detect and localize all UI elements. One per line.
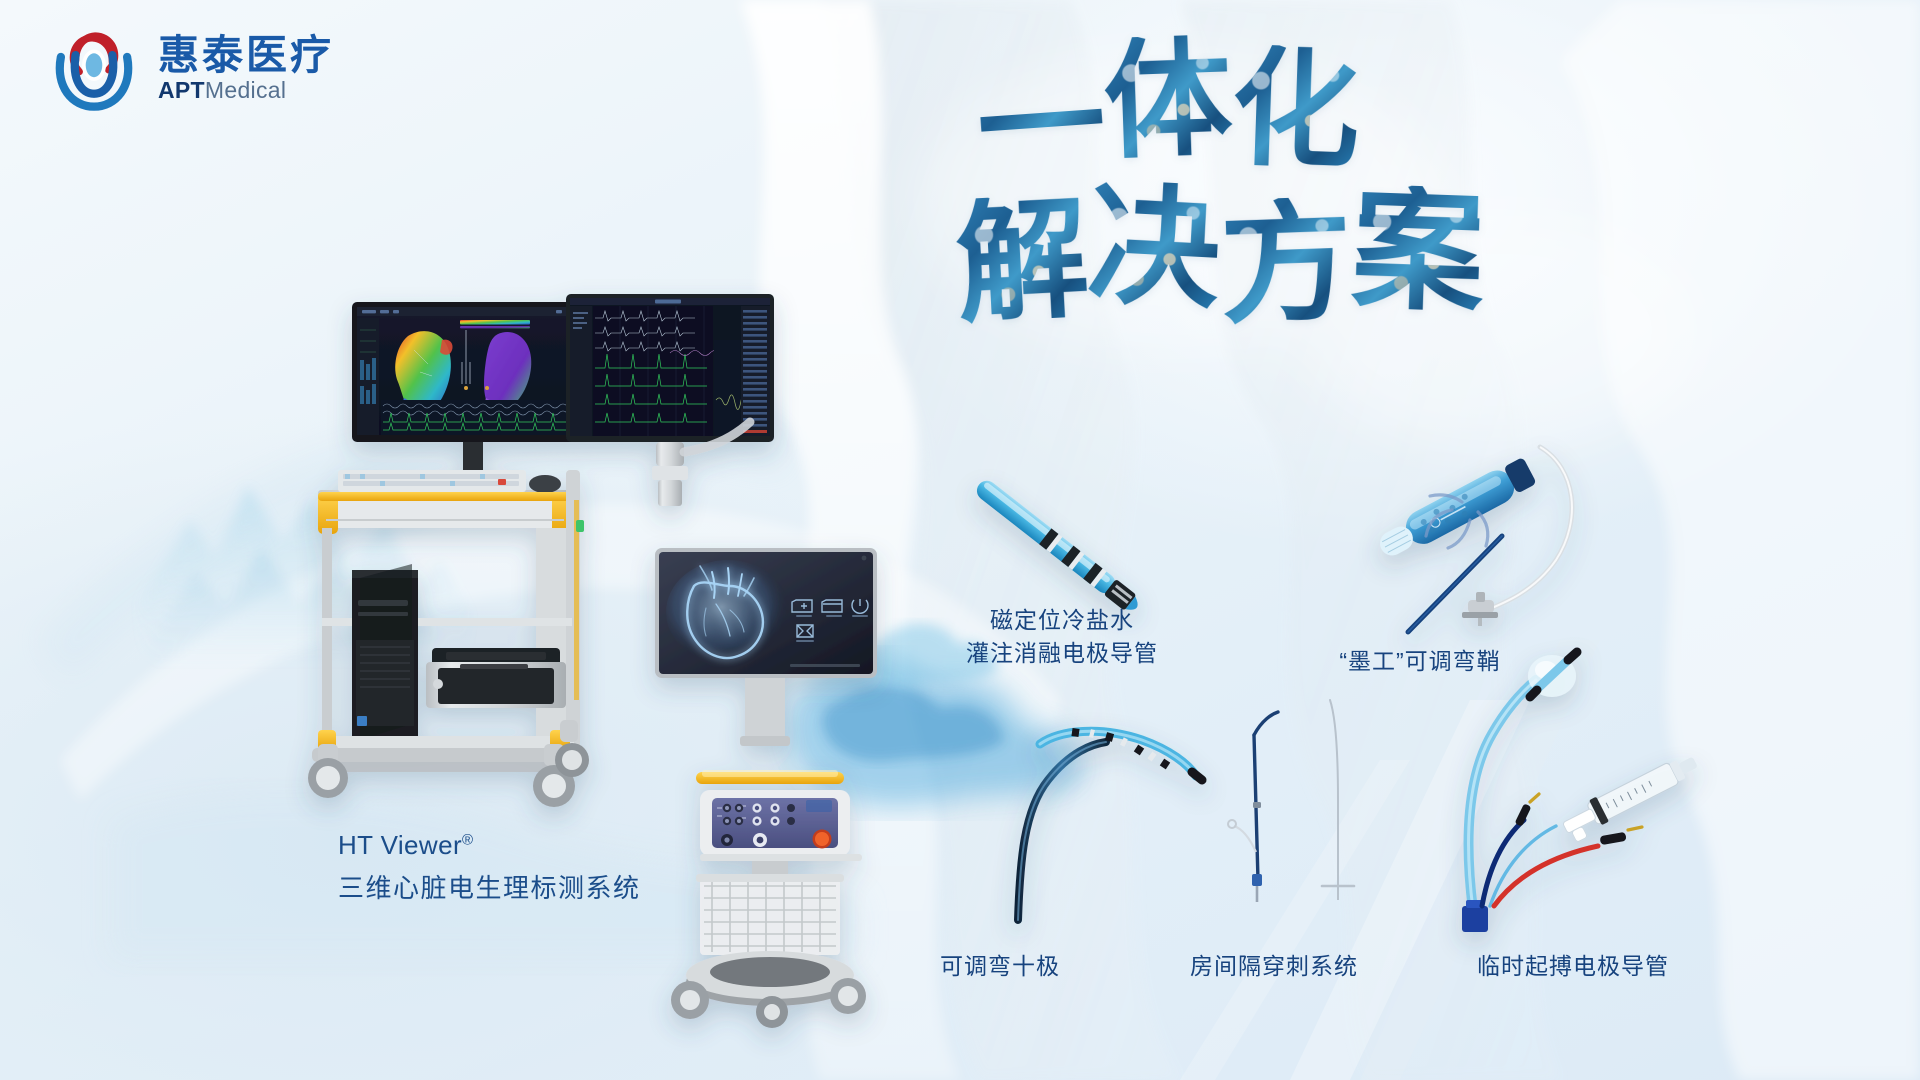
power-icon [852, 599, 868, 613]
headline-char: 决 [1085, 179, 1224, 318]
poster-canvas: 惠泰医疗 APTMedical 一体化 解决方案 [0, 0, 1920, 1080]
hemostasis-valve [1462, 592, 1498, 626]
logo-wordmark: 惠泰医疗 APTMedical [158, 34, 334, 102]
decapolar-catheter [1018, 731, 1202, 920]
temporary-pacing-catheter [1462, 652, 1703, 932]
new-patient-icon [792, 600, 812, 612]
headline: 一体化 解决方案 [960, 40, 1650, 360]
caption-decapolar-catheter: 可调弯十极 [940, 950, 1060, 983]
logo-medical-text: Medical [205, 77, 286, 103]
steerable-sheath [1373, 447, 1571, 632]
headline-char: 化 [1230, 44, 1362, 176]
headline-line-1: 一体化 [976, 40, 1360, 168]
curve-indicator [1426, 495, 1488, 548]
ep-console-cart [655, 548, 877, 1028]
interlocking-rings-logo [48, 22, 140, 114]
brand-logo[interactable]: 惠泰医疗 APTMedical [48, 22, 334, 114]
caption-ht-viewer: HT Viewer® 三维心脏电生理标测系统 [338, 827, 641, 907]
caption-line: 临时起搏电极导管 [1477, 950, 1669, 983]
caption-line: “墨工”可调弯鞘 [1339, 645, 1500, 678]
settings-icon [797, 625, 813, 637]
console-ports [721, 803, 795, 847]
caption-line: 灌注消融电极导管 [966, 637, 1158, 670]
headline-char: 案 [1350, 184, 1487, 321]
headline-char: 体 [1102, 34, 1234, 166]
console-display [655, 548, 877, 746]
cart-caster [308, 720, 589, 807]
transseptal-puncture-system [1228, 700, 1354, 902]
logo-apt-text: APT [158, 77, 205, 103]
caption-transseptal-puncture-system: 房间隔穿刺系统 [1190, 950, 1358, 983]
caption-steerable-sheath: “墨工”可调弯鞘 [1339, 645, 1500, 678]
lead-connector [1515, 794, 1642, 845]
caption-line: 可调弯十极 [940, 950, 1060, 983]
headline-char: 方 [1218, 196, 1355, 333]
irrigated-ablation-catheter [973, 477, 1143, 616]
logo-english-name: APTMedical [158, 79, 334, 102]
open-folder-icon [822, 600, 842, 612]
caption-temporary-pacing-catheter: 临时起搏电极导管 [1477, 950, 1669, 983]
logo-chinese-name: 惠泰医疗 [158, 34, 334, 77]
ht-viewer-workstation [308, 294, 774, 807]
caption-irrigated-ablation-catheter: 磁定位冷盐水 灌注消融电极导管 [966, 604, 1158, 671]
ht-viewer-brand: HT Viewer® [338, 827, 641, 865]
caption-line: 磁定位冷盐水 [966, 604, 1158, 637]
console-icon-row [792, 599, 868, 637]
console-caster [671, 978, 866, 1028]
equipment-cart [308, 470, 589, 807]
mapping-monitor [352, 302, 602, 493]
ep-recorder-monitor [566, 294, 774, 506]
caption-line: 房间隔穿刺系统 [1190, 950, 1358, 983]
headline-char: 一 [973, 58, 1110, 195]
trademark-symbol: ® [462, 831, 473, 848]
headline-line-2: 解决方案 [956, 188, 1484, 320]
control-console-panel [700, 790, 862, 861]
headline-char: 解 [953, 193, 1092, 332]
ht-viewer-description: 三维心脏电生理标测系统 [338, 870, 641, 908]
